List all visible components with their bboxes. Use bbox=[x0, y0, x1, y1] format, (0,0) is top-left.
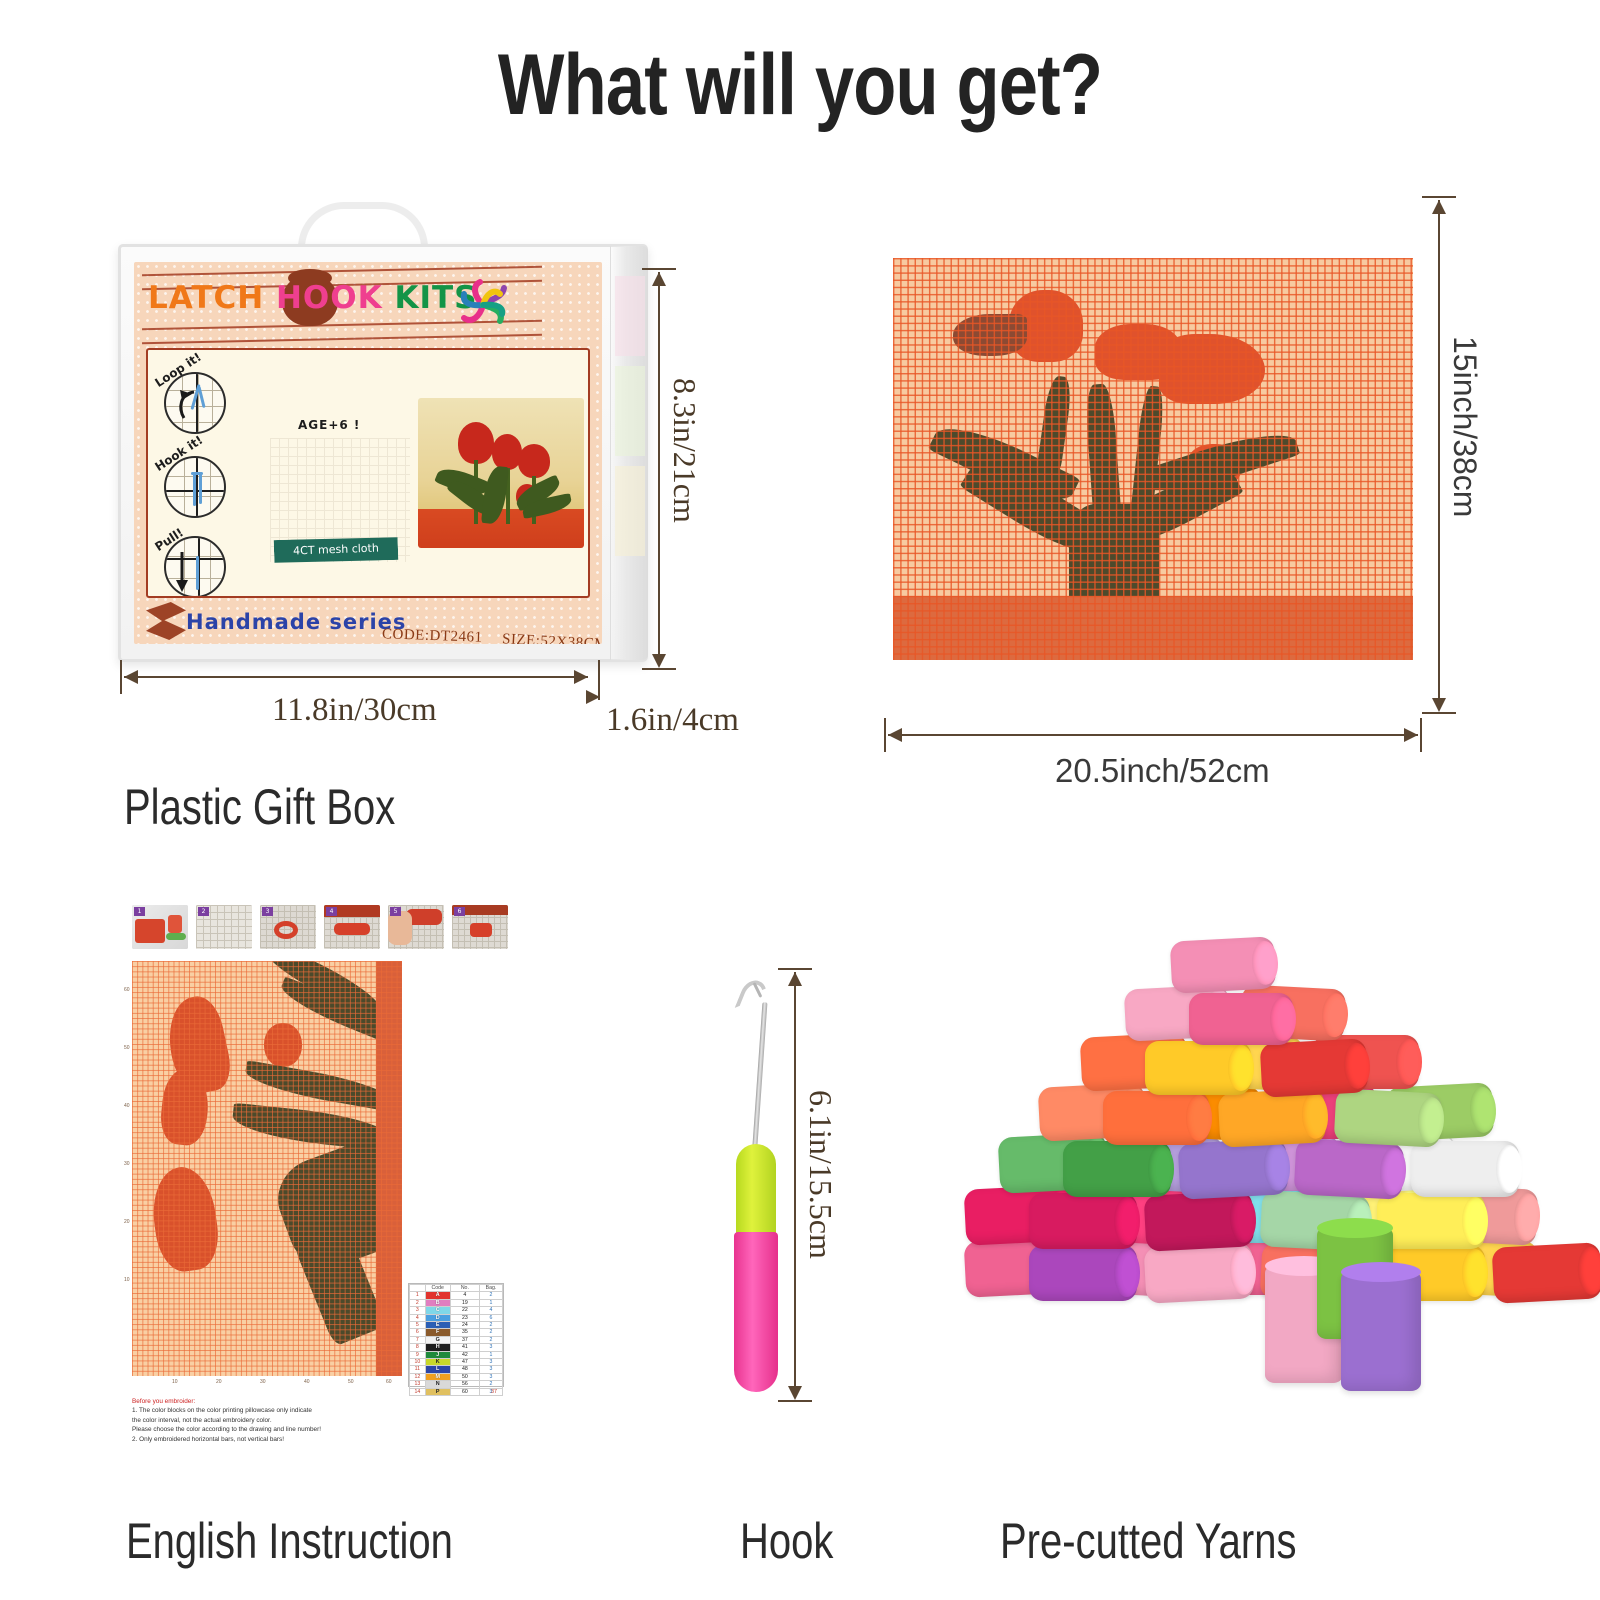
legend-code-swatch: P bbox=[425, 1388, 450, 1395]
legend-no: 42 bbox=[450, 1351, 479, 1358]
legend-index: 2 bbox=[410, 1299, 426, 1306]
thumb-badge: 3 bbox=[262, 907, 273, 916]
brand-title: LATCH HOOK KITS bbox=[148, 280, 448, 316]
legend-bag: 2 bbox=[479, 1329, 502, 1336]
ruler-mark: 60 bbox=[386, 1379, 392, 1385]
canvas-width-line bbox=[888, 734, 1418, 736]
color-legend-table: Code No. Bag. 1A422B1913C2244D2365E2426F… bbox=[408, 1283, 504, 1387]
legend-code-swatch: D bbox=[425, 1314, 450, 1321]
legend-code-swatch: K bbox=[425, 1359, 450, 1366]
step-thumbnail: 3 bbox=[260, 905, 316, 949]
ruler-mark: 50 bbox=[348, 1379, 354, 1385]
canvas-width-arrow-right bbox=[1404, 728, 1418, 742]
legend-header-row: Code No. Bag. bbox=[410, 1285, 503, 1292]
canvas-height-cap-bottom bbox=[1422, 712, 1456, 714]
yarn-bundle bbox=[1260, 1038, 1369, 1097]
legend-row: 7G372 bbox=[410, 1336, 503, 1343]
box-height-arrow-down bbox=[652, 654, 666, 668]
legend-bag: 4 bbox=[479, 1307, 502, 1314]
legend-index: 7 bbox=[410, 1336, 426, 1343]
legend-col-bag: Bag. bbox=[479, 1285, 502, 1292]
brand-word-latch: LATCH bbox=[148, 280, 264, 316]
notes-line-4: 2. Only embroidered horizontal bars, not… bbox=[132, 1435, 402, 1444]
legend-code-swatch: J bbox=[425, 1351, 450, 1358]
legend-code-swatch: C bbox=[425, 1307, 450, 1314]
legend-no: 48 bbox=[450, 1366, 479, 1373]
legend-no: 22 bbox=[450, 1307, 479, 1314]
handmade-series-label: Handmade series bbox=[186, 610, 406, 634]
thumb-badge: 5 bbox=[390, 907, 401, 916]
legend-bag: 2 bbox=[479, 1292, 502, 1299]
ruler-mark: 30 bbox=[260, 1379, 266, 1385]
ruler-mark: 40 bbox=[124, 1103, 130, 1109]
ruler-mark: 30 bbox=[124, 1161, 130, 1167]
legend-col-no: No. bbox=[450, 1285, 479, 1292]
hook-length-label: 6.1in/15.5cm bbox=[802, 1090, 839, 1259]
infographic-page: What will you get? LATCH HOOK KITS bbox=[0, 0, 1600, 1600]
step-thumbnail: 5 bbox=[388, 905, 444, 949]
pre-cutted-yarns-image bbox=[965, 935, 1465, 1415]
box-width-line bbox=[124, 676, 588, 678]
legend-bag: 2 bbox=[479, 1336, 502, 1343]
notes-line-2: the color interval, not the actual embro… bbox=[132, 1416, 402, 1425]
legend-index: 1 bbox=[410, 1292, 426, 1299]
caption-instruction: English Instruction bbox=[126, 1512, 453, 1570]
legend-code-swatch: F bbox=[425, 1329, 450, 1336]
box-height-cap-top bbox=[642, 268, 676, 270]
step-circle-hook bbox=[164, 456, 226, 518]
legend-bag: 3 bbox=[479, 1366, 502, 1373]
legend-bag: 2 bbox=[479, 1322, 502, 1329]
legend-code-swatch: E bbox=[425, 1322, 450, 1329]
caption-yarns: Pre-cutted Yarns bbox=[1000, 1512, 1296, 1570]
legend-no: 4 bbox=[450, 1292, 479, 1299]
legend-code-swatch: H bbox=[425, 1344, 450, 1351]
legend-code-swatch: G bbox=[425, 1336, 450, 1343]
legend-no: 24 bbox=[450, 1322, 479, 1329]
step-thumbnail: 6 bbox=[452, 905, 508, 949]
yarn-bundle bbox=[1144, 1242, 1255, 1304]
box-front-artwork: LATCH HOOK KITS Loop it! bbox=[134, 262, 602, 644]
yarn-bundle bbox=[1145, 1041, 1251, 1095]
legend-row: 2B191 bbox=[410, 1299, 503, 1306]
yarn-bundle bbox=[1189, 993, 1293, 1045]
hook-shaft bbox=[752, 1002, 767, 1152]
printed-canvas-image bbox=[893, 258, 1413, 660]
ruler-mark: 20 bbox=[124, 1219, 130, 1225]
legend-total: 37 bbox=[491, 1389, 497, 1395]
canvas-width-label: 20.5inch/52cm bbox=[1055, 752, 1270, 790]
ruler-mark: 40 bbox=[304, 1379, 310, 1385]
legend-bag: 3 bbox=[479, 1373, 502, 1380]
yarn-bundle bbox=[1377, 1193, 1485, 1249]
instruction-notes: Before you embroider: 1. The color block… bbox=[132, 1397, 402, 1444]
product-size: SIZE:52X38CM bbox=[502, 631, 602, 644]
canvas-height-label: 15inch/38cm bbox=[1446, 336, 1483, 517]
box-depth-arrow bbox=[586, 690, 600, 704]
ruler-mark: 20 bbox=[216, 1379, 222, 1385]
canvas-mesh-grid bbox=[893, 258, 1413, 660]
ruler-mark: 50 bbox=[124, 1045, 130, 1051]
legend-index: 11 bbox=[410, 1366, 426, 1373]
yarn-bundle bbox=[1029, 1245, 1137, 1301]
hook-length-arrow-up bbox=[788, 972, 802, 986]
legend-index: 10 bbox=[410, 1359, 426, 1366]
yarn-bundle bbox=[1063, 1141, 1171, 1197]
legend-index: 14 bbox=[410, 1388, 426, 1395]
legend-code-swatch: L bbox=[425, 1366, 450, 1373]
hook-grip-lower bbox=[734, 1232, 778, 1392]
canvas-width-cap-left bbox=[884, 718, 886, 752]
caption-gift-box: Plastic Gift Box bbox=[124, 778, 395, 836]
instruction-panel: Loop it! Hook it! bbox=[146, 348, 590, 598]
yarn-bundle bbox=[1334, 1088, 1443, 1147]
legend-col-code: Code bbox=[425, 1285, 450, 1292]
legend-col-index bbox=[410, 1285, 426, 1292]
legend-bag: 6 bbox=[479, 1314, 502, 1321]
thumb-badge: 2 bbox=[198, 907, 209, 916]
legend-no: 41 bbox=[450, 1344, 479, 1351]
legend-index: 4 bbox=[410, 1314, 426, 1321]
legend-row: 5E242 bbox=[410, 1322, 503, 1329]
english-instruction-image: 1 2 3 4 5 6 bbox=[124, 905, 516, 1500]
tulip-preview-photo bbox=[418, 398, 584, 548]
thumb-badge: 1 bbox=[134, 907, 145, 916]
box-height-arrow-up bbox=[652, 272, 666, 286]
notes-line-3: Please choose the color according to the… bbox=[132, 1425, 402, 1434]
canvas-height-line bbox=[1438, 200, 1440, 710]
legend-bag: 1 bbox=[479, 1351, 502, 1358]
legend-no: 50 bbox=[450, 1373, 479, 1380]
legend-row: 3C224 bbox=[410, 1307, 503, 1314]
legend-no: 35 bbox=[450, 1329, 479, 1336]
legend-index: 8 bbox=[410, 1344, 426, 1351]
canvas-width-cap-right bbox=[1420, 718, 1422, 752]
step-circle-pull bbox=[164, 536, 226, 598]
step-thumbnail: 4 bbox=[324, 905, 380, 949]
legend-code-swatch: B bbox=[425, 1299, 450, 1306]
ruler-mark: 10 bbox=[172, 1379, 178, 1385]
canvas-height-arrow-down bbox=[1432, 698, 1446, 712]
legend-row: 6F352 bbox=[410, 1329, 503, 1336]
legend-no: 56 bbox=[450, 1381, 479, 1388]
product-code: CODE:DT2461 bbox=[382, 626, 483, 644]
yarn-bundle bbox=[1492, 1242, 1600, 1304]
legend-code-swatch: N bbox=[425, 1381, 450, 1388]
legend-code-swatch: M bbox=[425, 1373, 450, 1380]
box-width-arrow-left bbox=[124, 670, 138, 684]
legend-bag: 1 bbox=[479, 1299, 502, 1306]
box-handle bbox=[298, 202, 428, 248]
legend-no: 47 bbox=[450, 1359, 479, 1366]
hook-length-arrow-down bbox=[788, 1386, 802, 1400]
yarn-bundle bbox=[1178, 1138, 1289, 1200]
yarn-bundle bbox=[1029, 1193, 1137, 1249]
step-thumbnail: 1 bbox=[132, 905, 188, 949]
box-depth-label: 1.6in/4cm bbox=[606, 702, 739, 739]
brand-word-hook: HOOK bbox=[276, 280, 383, 316]
yarn-bundle bbox=[1144, 1190, 1255, 1252]
box-width-arrow-right bbox=[574, 670, 588, 684]
legend-index: 12 bbox=[410, 1373, 426, 1380]
legend-row: 13N562 bbox=[410, 1381, 503, 1388]
legend-no: 37 bbox=[450, 1336, 479, 1343]
yarn-bundle bbox=[1294, 1138, 1405, 1200]
legend-index: 5 bbox=[410, 1322, 426, 1329]
mesh-cloth-banner: 4CT mesh cloth bbox=[274, 536, 399, 564]
pinwheel-logo bbox=[452, 274, 514, 336]
legend-row: 4D236 bbox=[410, 1314, 503, 1321]
canvas-height-arrow-up bbox=[1432, 200, 1446, 214]
legend-row: 14P603 bbox=[410, 1388, 503, 1395]
box-height-label: 8.3in/21cm bbox=[666, 378, 703, 523]
yarn-bundle bbox=[1170, 936, 1277, 993]
notes-line-1: 1. The color blocks on the color printin… bbox=[132, 1406, 402, 1415]
legend-row: 10K473 bbox=[410, 1359, 503, 1366]
box-width-cap-left bbox=[120, 660, 122, 694]
age-label: AGE+6 ! bbox=[298, 418, 360, 432]
legend-index: 6 bbox=[410, 1329, 426, 1336]
box-height-cap-bottom bbox=[642, 668, 676, 670]
hook-length-cap-top bbox=[778, 968, 812, 970]
legend-row: 1A42 bbox=[410, 1292, 503, 1299]
step-circle-loop bbox=[164, 372, 226, 434]
canvas-width-arrow-left bbox=[888, 728, 902, 742]
legend-bag: 3 bbox=[479, 1344, 502, 1351]
yarn-bundle bbox=[1103, 1091, 1209, 1145]
step-thumbnail: 2 bbox=[196, 905, 252, 949]
legend-bag: 2 bbox=[479, 1381, 502, 1388]
legend-row: 9J421 bbox=[410, 1351, 503, 1358]
yarn-bundle bbox=[1411, 1141, 1519, 1197]
caption-hook: Hook bbox=[740, 1512, 833, 1570]
legend-row: 11L483 bbox=[410, 1366, 503, 1373]
handmade-ribbon-icon bbox=[146, 602, 186, 640]
page-title: What will you get? bbox=[144, 36, 1456, 135]
legend-row: 12M503 bbox=[410, 1373, 503, 1380]
legend-no: 19 bbox=[450, 1299, 479, 1306]
legend-no: 60 bbox=[450, 1388, 479, 1395]
notes-heading: Before you embroider: bbox=[132, 1397, 402, 1406]
hook-length-line bbox=[794, 972, 796, 1398]
legend-row: 8H413 bbox=[410, 1344, 503, 1351]
ruler-mark: 10 bbox=[124, 1277, 130, 1283]
box-height-line bbox=[658, 272, 660, 666]
box-width-label: 11.8in/30cm bbox=[272, 692, 437, 729]
legend-index: 3 bbox=[410, 1307, 426, 1314]
canvas-height-cap-top bbox=[1422, 196, 1456, 198]
hook-grip-upper bbox=[736, 1144, 776, 1236]
legend-code-swatch: A bbox=[425, 1292, 450, 1299]
box-spine bbox=[610, 246, 648, 660]
ruler-mark: 60 bbox=[124, 987, 130, 993]
yarn-spool bbox=[1341, 1271, 1421, 1391]
yarn-bundle bbox=[1218, 1088, 1327, 1147]
hook-length-cap-bottom bbox=[778, 1400, 812, 1402]
legend-index: 13 bbox=[410, 1381, 426, 1388]
legend-no: 23 bbox=[450, 1314, 479, 1321]
thumb-badge: 4 bbox=[326, 907, 337, 916]
thumb-badge: 6 bbox=[454, 907, 465, 916]
chart-grid bbox=[132, 961, 402, 1376]
gift-box-image: LATCH HOOK KITS Loop it! bbox=[118, 200, 648, 670]
legend-bag: 3 bbox=[479, 1359, 502, 1366]
pattern-chart bbox=[132, 961, 402, 1376]
legend-index: 9 bbox=[410, 1351, 426, 1358]
